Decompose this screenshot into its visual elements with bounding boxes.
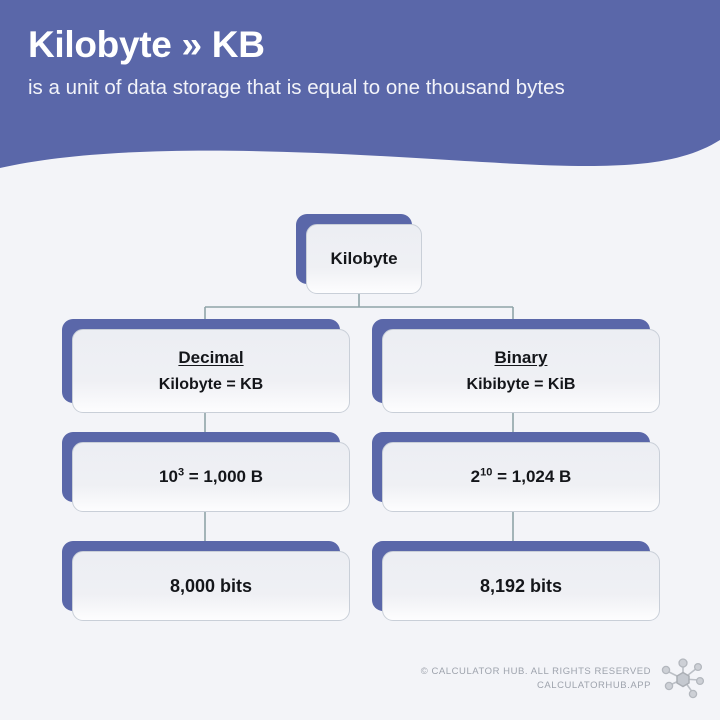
- node-binary-power[interactable]: 210 = 1,024 B: [372, 432, 660, 512]
- node-card: Decimal Kilobyte = KB: [72, 329, 350, 413]
- node-decimal-bits[interactable]: 8,000 bits: [62, 541, 350, 621]
- binary-power-exponent: 10: [480, 467, 492, 479]
- node-card: Binary Kibibyte = KiB: [382, 329, 660, 413]
- binary-power-label: 210 = 1,024 B: [471, 466, 572, 487]
- footer: © CALCULATOR HUB. ALL RIGHTS RESERVED CA…: [421, 656, 706, 702]
- decimal-bits-label: 8,000 bits: [170, 575, 252, 598]
- footer-text-block: © CALCULATOR HUB. ALL RIGHTS RESERVED CA…: [421, 665, 651, 693]
- binary-subtitle-label: Kibibyte = KiB: [467, 375, 576, 395]
- node-card: Kilobyte: [306, 224, 422, 294]
- logo-hexagon-core: [677, 673, 689, 687]
- node-card: 8,000 bits: [72, 551, 350, 621]
- node-decimal-power[interactable]: 103 = 1,000 B: [62, 432, 350, 512]
- node-card: 103 = 1,000 B: [72, 442, 350, 512]
- decimal-heading-label: Decimal: [178, 347, 243, 368]
- binary-heading-label: Binary: [495, 347, 548, 368]
- node-kilobyte-root[interactable]: Kilobyte: [296, 214, 422, 294]
- diagram-canvas: Kilobyte Decimal Kilobyte = KB Binary Ki…: [0, 0, 720, 720]
- node-decimal-branch[interactable]: Decimal Kilobyte = KB: [62, 319, 350, 413]
- decimal-power-label: 103 = 1,000 B: [159, 466, 263, 487]
- binary-power-base: 2: [471, 467, 480, 486]
- node-card: 8,192 bits: [382, 551, 660, 621]
- node-root-label: Kilobyte: [330, 248, 397, 269]
- decimal-subtitle-label: Kilobyte = KB: [159, 375, 263, 395]
- decimal-power-base: 10: [159, 467, 178, 486]
- network-hub-logo-icon: [660, 656, 706, 702]
- binary-bits-label: 8,192 bits: [480, 575, 562, 598]
- node-card: 210 = 1,024 B: [382, 442, 660, 512]
- footer-site: CALCULATORHUB.APP: [421, 679, 651, 693]
- footer-copyright: © CALCULATOR HUB. ALL RIGHTS RESERVED: [421, 665, 651, 679]
- binary-power-equals: = 1,024 B: [492, 467, 571, 486]
- node-binary-branch[interactable]: Binary Kibibyte = KiB: [372, 319, 660, 413]
- decimal-power-equals: = 1,000 B: [184, 467, 263, 486]
- node-binary-bits[interactable]: 8,192 bits: [372, 541, 660, 621]
